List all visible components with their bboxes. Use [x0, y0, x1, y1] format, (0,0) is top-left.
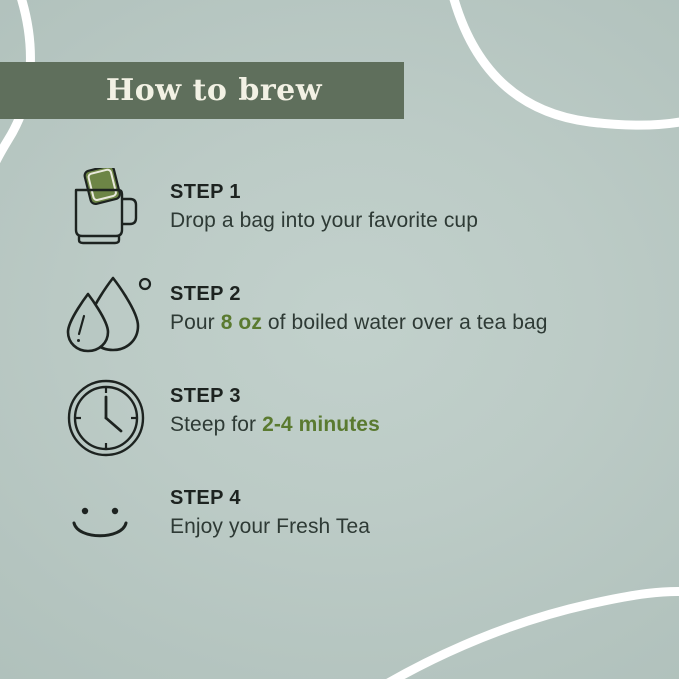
step-2-label: STEP 2	[170, 282, 548, 308]
brew-instructions-poster: How to brew	[0, 0, 679, 679]
swoosh-top-right	[452, 0, 679, 125]
step-4-description: Enjoy your Fresh Tea	[170, 512, 370, 542]
step-3-label: STEP 3	[170, 384, 380, 410]
clock-icon	[66, 378, 146, 458]
step-3-icon-slot	[66, 372, 170, 458]
step-1-description: Drop a bag into your favorite cup	[170, 206, 478, 236]
step-4-label: STEP 4	[170, 486, 370, 512]
step-item-4: STEP 4 Enjoy your Fresh Tea	[0, 474, 679, 570]
step-item-2: STEP 2 Pour 8 oz of boiled water over a …	[0, 270, 679, 372]
step-1-icon-slot	[66, 168, 170, 248]
step-2-description: Pour 8 oz of boiled water over a tea bag	[170, 308, 548, 338]
step-3-text: STEP 3 Steep for 2-4 minutes	[170, 372, 380, 439]
step-1-label: STEP 1	[170, 180, 478, 206]
step-1-desc-before: Drop a bag into your favorite cup	[170, 209, 478, 232]
header-banner: How to brew	[0, 62, 404, 119]
step-2-text: STEP 2 Pour 8 oz of boiled water over a …	[170, 270, 548, 337]
step-1-text: STEP 1 Drop a bag into your favorite cup	[170, 168, 478, 235]
water-drops-icon	[66, 272, 152, 354]
step-2-icon-slot	[66, 270, 170, 354]
smiley-face-icon	[66, 502, 136, 548]
step-4-text: STEP 4 Enjoy your Fresh Tea	[170, 474, 370, 541]
step-item-1: STEP 1 Drop a bag into your favorite cup	[0, 168, 679, 270]
step-4-icon-slot	[66, 474, 170, 548]
step-item-3: STEP 3 Steep for 2-4 minutes	[0, 372, 679, 474]
swoosh-bottom-right	[360, 592, 679, 679]
step-4-desc-before: Enjoy your Fresh Tea	[170, 515, 370, 538]
mug-with-teabag-icon	[66, 168, 144, 248]
step-2-desc-before: Pour	[170, 311, 221, 334]
step-2-highlight: 8 oz	[221, 311, 262, 334]
step-3-description: Steep for 2-4 minutes	[170, 410, 380, 440]
steps-list: STEP 1 Drop a bag into your favorite cup	[0, 168, 679, 570]
page-title: How to brew	[82, 73, 322, 108]
step-2-desc-after: of boiled water over a tea bag	[262, 311, 548, 334]
step-3-desc-before: Steep for	[170, 413, 262, 436]
step-3-highlight: 2-4 minutes	[262, 413, 380, 436]
